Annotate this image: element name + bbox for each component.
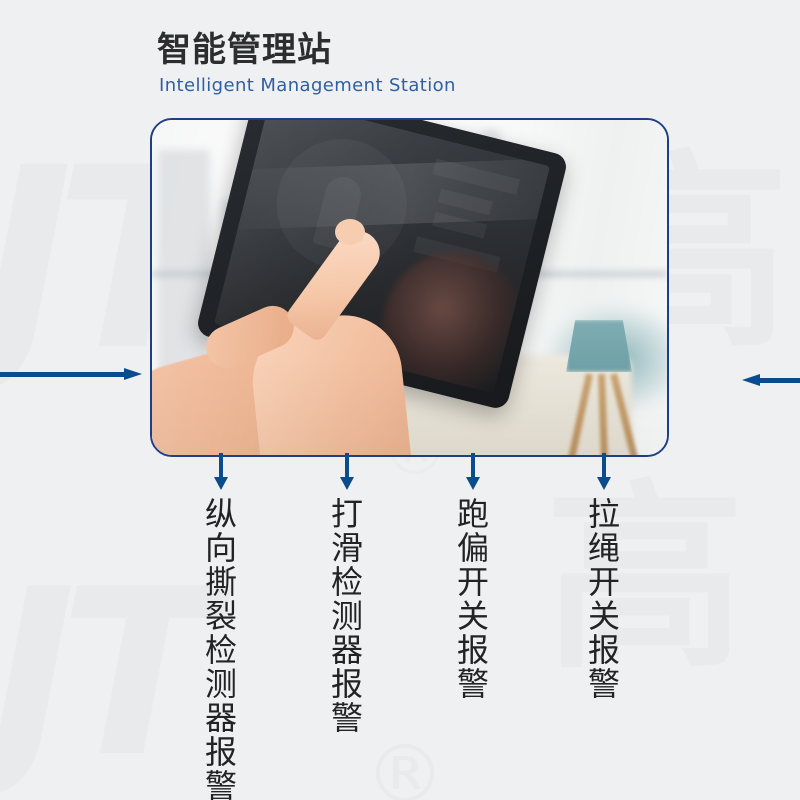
arrow-left-shaft	[0, 372, 126, 377]
watermark-brand-cn-lower: 高	[545, 480, 745, 680]
hand-holding-tablet-photo	[152, 120, 667, 455]
callout-connector-4	[597, 453, 611, 490]
connector-line	[471, 453, 475, 477]
connector-arrowhead-icon	[214, 477, 228, 490]
arrow-right-icon	[742, 374, 800, 386]
connector-arrowhead-icon	[597, 477, 611, 490]
page-subtitle: Intelligent Management Station	[159, 74, 456, 98]
arrow-right-head	[742, 374, 760, 386]
callout-connector-2	[340, 453, 354, 490]
connector-line	[219, 453, 223, 477]
product-photo-card	[150, 118, 669, 457]
connector-line	[602, 453, 606, 477]
screen-glare	[214, 157, 550, 231]
watermark-brand-left-lower: JT	[0, 560, 200, 790]
watermark-registered: ®	[365, 735, 445, 800]
page-header: 智能管理站 Intelligent Management Station	[157, 28, 456, 98]
callout-label-3: 跑偏开关报警	[453, 497, 493, 701]
page-title: 智能管理站	[157, 28, 456, 72]
connector-arrowhead-icon	[340, 477, 354, 490]
arrow-left-icon	[0, 368, 142, 380]
arrow-right-shaft	[758, 378, 800, 383]
lamp-shade	[566, 320, 632, 372]
connector-arrowhead-icon	[466, 477, 480, 490]
page-root: JT JT 高 高 ® ® 智能管理站 Intelligent Manageme…	[0, 0, 800, 800]
connector-line	[345, 453, 349, 477]
callout-label-2: 打滑检测器报警	[327, 497, 367, 735]
callout-label-1: 纵向撕裂检测器报警	[201, 497, 241, 800]
fingertip	[335, 219, 365, 245]
callout-label-4: 拉绳开关报警	[584, 497, 624, 701]
callout-connector-3	[466, 453, 480, 490]
callout-connector-1	[214, 453, 228, 490]
arrow-left-head	[124, 368, 142, 380]
